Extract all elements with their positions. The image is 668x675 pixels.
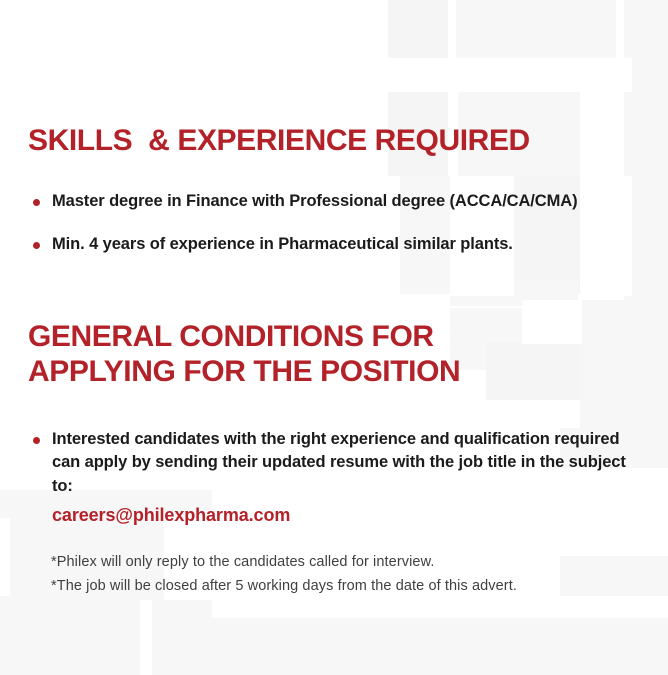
general-conditions-block: Interested candidates with the right exp… bbox=[28, 428, 628, 527]
decor-rect-15 bbox=[0, 616, 142, 675]
decor-rect-2 bbox=[456, 0, 616, 58]
bullet-dot-icon bbox=[33, 242, 40, 249]
decor-knockout-6 bbox=[0, 518, 10, 596]
decor-rect-17 bbox=[212, 618, 668, 675]
decor-rect-14 bbox=[0, 612, 142, 675]
general-bullet-list: Interested candidates with the right exp… bbox=[28, 428, 628, 498]
skills-bullet-item: Master degree in Finance with Profession… bbox=[28, 190, 642, 213]
decor-knockout-5 bbox=[522, 300, 582, 344]
footnote-group: *Philex will only reply to the candidate… bbox=[51, 551, 651, 598]
decor-knockout-1 bbox=[380, 58, 632, 92]
footnote-line: *Philex will only reply to the candidate… bbox=[51, 551, 651, 575]
job-advert-poster: SKILLS & EXPERIENCE REQUIRED Master degr… bbox=[0, 0, 668, 675]
decor-rect-16 bbox=[150, 600, 212, 675]
skills-bullet-text: Master degree in Finance with Profession… bbox=[52, 192, 577, 210]
decor-rect-8 bbox=[446, 280, 578, 306]
skills-section-heading: SKILLS & EXPERIENCE REQUIRED bbox=[28, 124, 640, 159]
contact-email-link[interactable]: careers@philexpharma.com bbox=[52, 505, 628, 527]
general-bullet-item: Interested candidates with the right exp… bbox=[28, 428, 628, 498]
decor-rect-11 bbox=[580, 300, 668, 430]
decor-knockout-7 bbox=[140, 600, 152, 675]
footnote-line: *The job will be closed after 5 working … bbox=[51, 575, 651, 599]
decor-knockout-8 bbox=[212, 596, 668, 618]
bullet-dot-icon bbox=[33, 437, 40, 444]
general-conditions-heading: GENERAL CONDITIONS FOR APPLYING FOR THE … bbox=[28, 320, 498, 390]
skills-bullet-item: Min. 4 years of experience in Pharmaceut… bbox=[28, 233, 642, 256]
skills-bullet-text: Min. 4 years of experience in Pharmaceut… bbox=[52, 235, 513, 253]
decor-rect-18 bbox=[0, 596, 146, 614]
general-bullet-text: Interested candidates with the right exp… bbox=[52, 430, 626, 495]
bullet-dot-icon bbox=[33, 199, 40, 206]
skills-bullet-list: Master degree in Finance with Profession… bbox=[28, 190, 642, 277]
decor-rect-1 bbox=[388, 0, 448, 58]
decor-rect-10 bbox=[486, 342, 668, 400]
